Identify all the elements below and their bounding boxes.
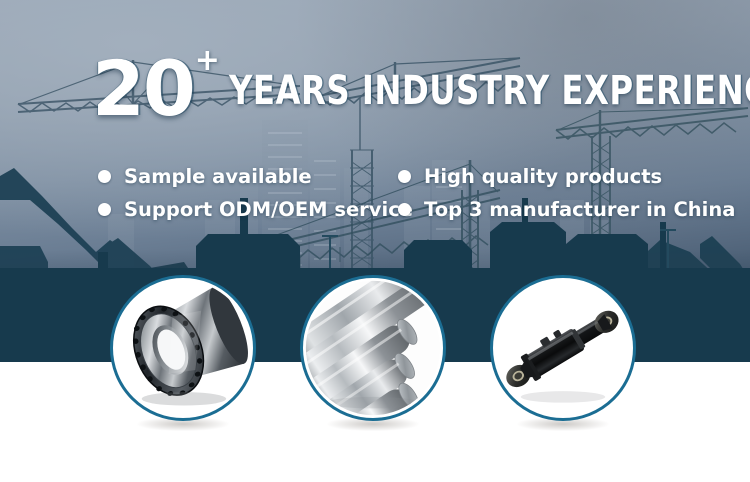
flanged-steel-pipe-image bbox=[113, 278, 253, 418]
product-circles bbox=[0, 0, 750, 482]
steel-round-bars-image bbox=[303, 278, 443, 418]
industry-experience-banner: 20 + YEARS INDUSTRY EXPERIENCE Sample av… bbox=[0, 0, 750, 482]
product-circle-flanged-steel-pipe[interactable] bbox=[110, 275, 256, 421]
product-circle-hydraulic-cylinder[interactable] bbox=[490, 275, 636, 421]
product-circle-steel-round-bars[interactable] bbox=[300, 275, 446, 421]
hydraulic-cylinder-image bbox=[493, 278, 633, 418]
